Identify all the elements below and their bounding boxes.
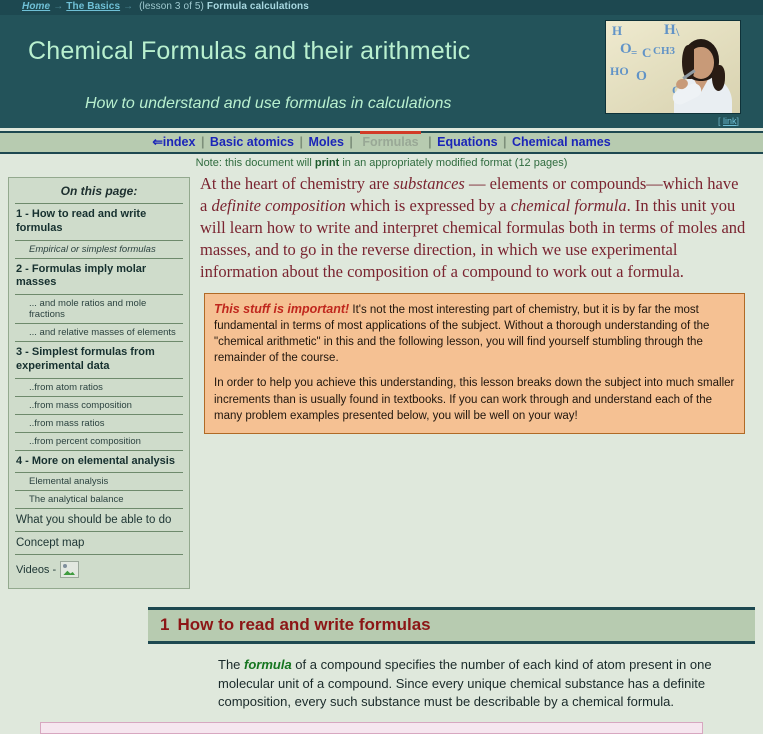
nav-item-basic-atomics[interactable]: Basic atomics xyxy=(210,135,294,149)
section-1-title: How to read and write formulas xyxy=(177,615,430,634)
photo-person xyxy=(672,35,736,113)
photo-formula-glyph: O xyxy=(620,41,632,58)
sidebar-item-from-atom-ratios[interactable]: ..from atom ratios xyxy=(15,379,183,396)
photo-formula-glyph: C xyxy=(642,45,651,61)
sidebar-item-mole-ratios[interactable]: ... and mole ratios and mole fractions xyxy=(15,295,183,323)
sidebar-item-section-4[interactable]: 4 - More on elemental analysis xyxy=(15,451,183,473)
sidebar-title: On this page: xyxy=(15,182,183,203)
nav-separator: | xyxy=(347,135,355,149)
two-column-layout: On this page: 1 - How to read and write … xyxy=(0,171,763,589)
nav-item-moles[interactable]: Moles xyxy=(308,135,343,149)
sidebar-item-videos[interactable]: Videos - xyxy=(15,555,183,580)
callout-paragraph-2: In order to help you achieve this unders… xyxy=(214,375,735,423)
nav-separator: | xyxy=(297,135,305,149)
nav-wrapper: ⇐index | Basic atomics | Moles | Formula… xyxy=(0,128,763,171)
print-note: Note: this document will print in an app… xyxy=(0,154,763,171)
breadcrumb-lesson-count: (lesson 3 of 5) xyxy=(139,1,204,12)
broken-image-icon xyxy=(60,561,79,578)
photo-formula-glyph: = xyxy=(631,47,637,59)
section-1-text-before: The xyxy=(218,657,244,672)
on-this-page-sidebar: On this page: 1 - How to read and write … xyxy=(8,177,190,589)
chemistry-teacher-photo: H H \ O = C CH3 HO O O xyxy=(605,20,741,114)
breadcrumb-current-page: Formula calculations xyxy=(207,1,309,12)
sidebar-item-empirical-formulas[interactable]: Empirical or simplest formulas xyxy=(15,241,183,258)
sidebar-item-from-percent-composition[interactable]: ..from percent composition xyxy=(15,433,183,450)
page-title: Chemical Formulas and their arithmetic xyxy=(28,37,470,66)
sidebar-item-relative-masses[interactable]: ... and relative masses of elements xyxy=(15,324,183,341)
page-masthead: Chemical Formulas and their arithmetic H… xyxy=(0,15,763,128)
photo-link-bracket-open: [ xyxy=(718,116,721,126)
section-1-number: 1 xyxy=(160,615,169,634)
section-1-text-after: of a compound specifies the number of ea… xyxy=(218,657,712,709)
callout-highlight: This stuff is important! xyxy=(214,302,349,316)
nav-item-chemical-names[interactable]: Chemical names xyxy=(512,135,611,149)
sidebar-item-what-you-should-do[interactable]: What you should be able to do xyxy=(15,509,183,531)
section-1-body: The formula of a compound specifies the … xyxy=(218,656,749,711)
nav-item-equations[interactable]: Equations xyxy=(437,135,497,149)
nav-separator: | xyxy=(426,135,434,149)
sidebar-item-section-2[interactable]: 2 - Formulas imply molar masses xyxy=(15,259,183,295)
photo-formula-glyph: O xyxy=(636,69,647,85)
intro-emph-chemical-formula: chemical formula xyxy=(511,196,627,215)
masthead-photo-block: H H \ O = C CH3 HO O O [ link xyxy=(605,20,739,126)
sidebar-item-section-3[interactable]: 3 - Simplest formulas from experimental … xyxy=(15,342,183,378)
breadcrumb-basics-link[interactable]: The Basics xyxy=(66,1,120,12)
page-subtitle: How to understand and use formulas in ca… xyxy=(85,95,451,113)
example-box-top-edge xyxy=(40,722,703,734)
breadcrumb-arrow-1: → xyxy=(50,1,66,12)
intro-text-1: At the heart of chemistry are xyxy=(200,174,393,193)
photo-link-bracket-close: ] xyxy=(736,116,739,126)
breadcrumb-home-link[interactable]: Home xyxy=(22,1,50,12)
intro-paragraph: At the heart of chemistry are substances… xyxy=(200,173,749,283)
breadcrumb: Home→The Basics→ (lesson 3 of 5) Formula… xyxy=(0,0,763,15)
nav-item-formulas-current: Formulas xyxy=(358,135,422,149)
nav-separator: | xyxy=(199,135,207,149)
photo-source-link[interactable]: link xyxy=(723,116,737,126)
sidebar-videos-label: Videos - xyxy=(16,564,56,576)
sidebar-item-concept-map[interactable]: Concept map xyxy=(15,532,183,554)
print-note-before: Note: this document will xyxy=(196,157,315,169)
intro-emph-substances: substances xyxy=(393,174,465,193)
section-1-heading: 1How to read and write formulas xyxy=(148,607,755,644)
intro-text-3: which is expressed by a xyxy=(346,196,511,215)
nav-separator: | xyxy=(501,135,509,149)
important-callout-box: This stuff is important! It's not the mo… xyxy=(204,293,745,434)
intro-emph-definite-composition: definite composition xyxy=(211,196,345,215)
sidebar-item-section-1[interactable]: 1 - How to read and write formulas xyxy=(15,204,183,240)
page-content: On this page: 1 - How to read and write … xyxy=(0,171,763,734)
nav-item-index[interactable]: ⇐index xyxy=(152,135,195,149)
photo-person-ponytail xyxy=(712,65,725,91)
sidebar-item-from-mass-ratios[interactable]: ..from mass ratios xyxy=(15,415,183,432)
sidebar-item-elemental-analysis[interactable]: Elemental analysis xyxy=(15,473,183,490)
print-note-bold: print xyxy=(315,157,339,169)
breadcrumb-arrow-2: → xyxy=(120,1,136,12)
sidebar-item-analytical-balance[interactable]: The analytical balance xyxy=(15,491,183,508)
photo-formula-glyph: HO xyxy=(610,64,629,79)
photo-formula-glyph: H xyxy=(612,23,622,39)
sidebar-item-from-mass-composition[interactable]: ..from mass composition xyxy=(15,397,183,414)
section-1-keyword-formula: formula xyxy=(244,657,292,672)
photo-credit-link-row: [ link] xyxy=(605,114,739,126)
print-note-after: in an appropriately modified format (12 … xyxy=(339,157,567,169)
section-nav-bar: ⇐index | Basic atomics | Moles | Formula… xyxy=(0,131,763,154)
main-column: At the heart of chemistry are substances… xyxy=(190,171,763,434)
callout-paragraph-1: This stuff is important! It's not the mo… xyxy=(214,301,735,367)
